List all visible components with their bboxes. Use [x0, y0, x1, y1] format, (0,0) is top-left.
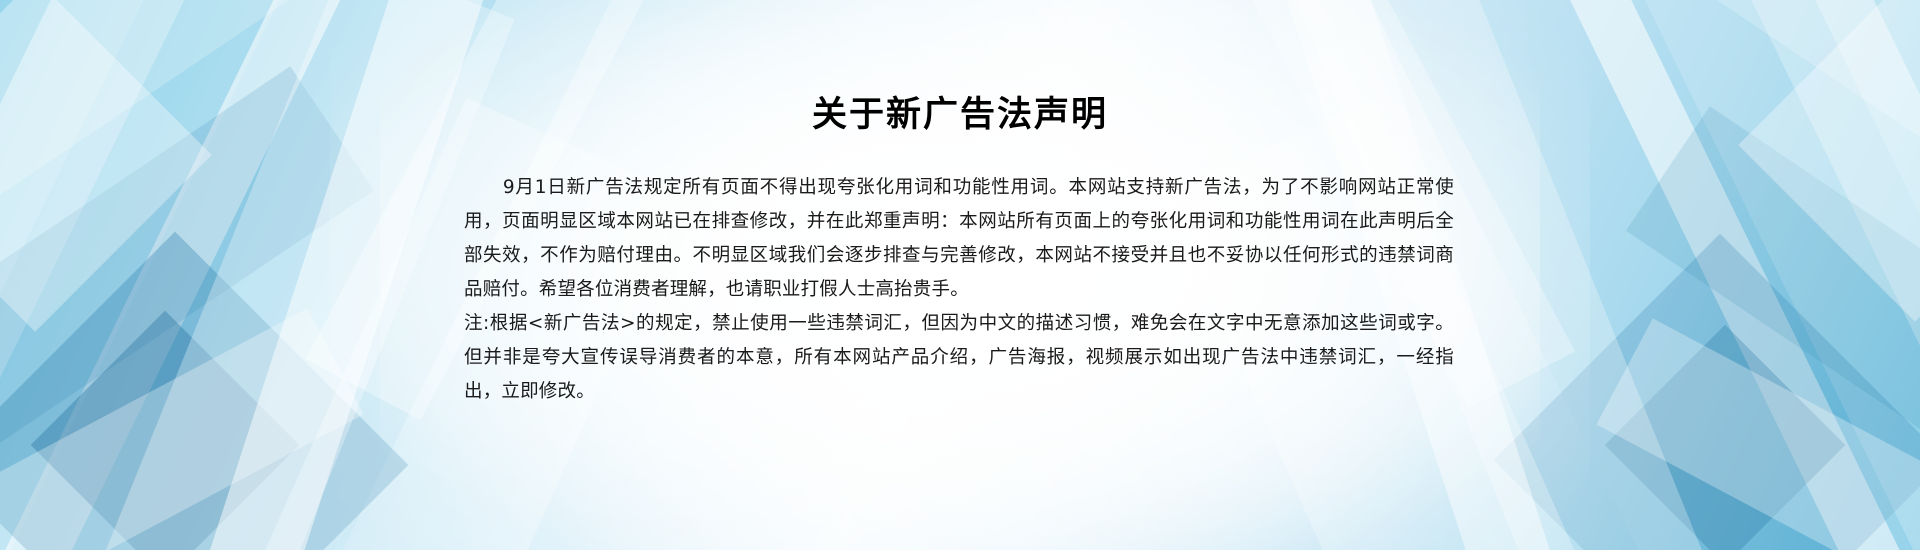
- page-title: 关于新广告法声明: [0, 93, 1920, 137]
- statement-content: 关于新广告法声明 9月1日新广告法规定所有页面不得出现夸张化用词和功能性用词。本…: [0, 0, 1920, 550]
- statement-paragraph-note: 注:根据<新广告法>的规定，禁止使用一些违禁词汇，但因为中文的描述习惯，难免会在…: [464, 307, 1454, 409]
- advertising-law-statement-banner: 关于新广告法声明 9月1日新广告法规定所有页面不得出现夸张化用词和功能性用词。本…: [0, 0, 1920, 550]
- statement-paragraph-main: 9月1日新广告法规定所有页面不得出现夸张化用词和功能性用词。本网站支持新广告法，…: [464, 171, 1454, 307]
